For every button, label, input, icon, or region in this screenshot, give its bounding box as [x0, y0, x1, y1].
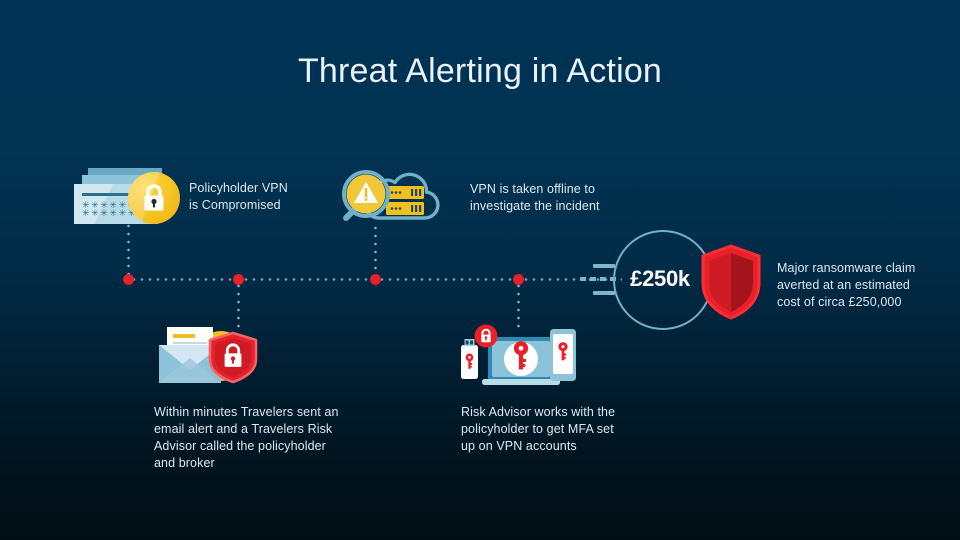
page-title: Threat Alerting in Action — [0, 52, 960, 91]
mfa-devices-key-icon — [455, 325, 579, 389]
step-2-caption: Within minutes Travelers sent an email a… — [154, 404, 374, 472]
padlock-icon — [142, 183, 166, 213]
outcome-amount: £250k — [620, 266, 700, 292]
cloud-server-warning-icon — [332, 160, 450, 226]
step-4-caption: Risk Advisor works with the policyholder… — [461, 404, 651, 455]
timeline-dash-top — [593, 264, 615, 268]
timeline-dot-1[interactable] — [123, 274, 134, 285]
timeline-connector-up-3 — [374, 224, 377, 276]
timeline-dot-3[interactable] — [370, 274, 381, 285]
red-shield-icon — [700, 244, 762, 320]
timeline-connector-down-2 — [237, 282, 240, 328]
timeline-dot-2[interactable] — [233, 274, 244, 285]
outcome-caption: Major ransomware claim averted at an est… — [777, 260, 937, 311]
timeline-connector-down-4 — [517, 282, 520, 328]
timeline-dot-4[interactable] — [513, 274, 524, 285]
email-alert-shield-icon — [155, 325, 263, 387]
timeline-dash-bottom — [593, 291, 615, 295]
slide-canvas: Threat Alerting in Action ✳✳✳✳✳✳✳✳✳✳✳✳✳✳… — [0, 0, 960, 540]
credential-card-lock-icon: ✳✳✳✳✳✳✳✳✳✳✳✳✳✳ — [74, 168, 182, 224]
step-1-caption: Policyholder VPN is Compromised — [189, 180, 319, 214]
step-3-caption: VPN is taken offline to investigate the … — [470, 181, 620, 215]
timeline-connector-up-1 — [127, 222, 130, 276]
